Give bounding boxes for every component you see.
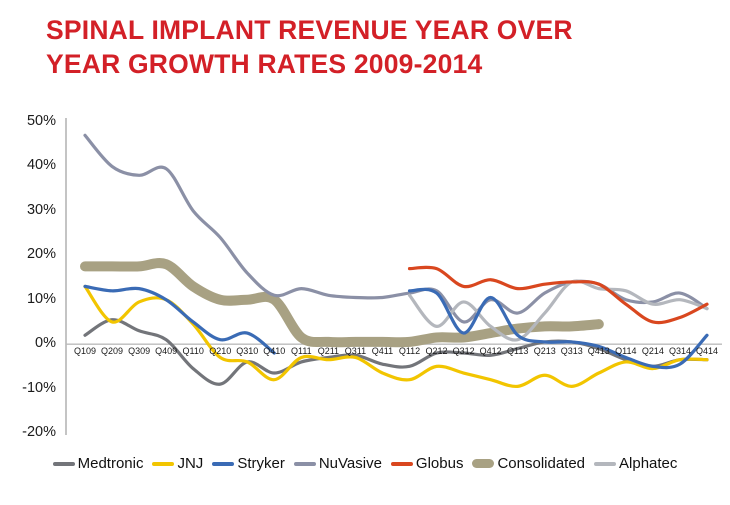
legend-item-label: Medtronic [78,455,144,472]
plot-area [0,0,730,500]
legend-item-label: Alphatec [619,455,677,472]
legend-swatch-icon [391,462,413,466]
chart-legend: MedtronicJNJStrykerNuVasiveGlobusConsoli… [0,455,730,472]
chart-container: Spinal Implant Revenue Year Over Year Gr… [0,0,730,500]
legend-item-stryker[interactable]: Stryker [212,455,285,472]
legend-item-label: Consolidated [497,455,585,472]
legend-item-label: JNJ [177,455,203,472]
legend-item-label: NuVasive [319,455,382,472]
legend-item-medtronic[interactable]: Medtronic [53,455,144,472]
x-axis-tick-label: Q414 [691,346,723,356]
series-jnj [85,286,707,386]
legend-swatch-icon [152,462,174,466]
legend-swatch-icon [594,462,616,466]
y-axis-tick-label: 10% [8,291,56,307]
y-axis-tick-label: -10% [8,380,56,396]
legend-swatch-icon [212,462,234,466]
y-axis-tick-label: 40% [8,157,56,173]
legend-item-jnj[interactable]: JNJ [152,455,203,472]
legend-item-globus[interactable]: Globus [391,455,464,472]
legend-item-consolidated[interactable]: Consolidated [472,455,585,472]
legend-item-nuvasive[interactable]: NuVasive [294,455,382,472]
y-axis-tick-label: 0% [8,335,56,351]
series-line-jnj [85,286,707,386]
y-axis-tick-label: -20% [8,424,56,440]
series-consolidated [85,263,599,342]
y-axis-tick-label: 20% [8,246,56,262]
legend-item-alphatec[interactable]: Alphatec [594,455,677,472]
y-axis-tick-label: 50% [8,113,56,129]
y-axis-tick-label: 30% [8,202,56,218]
legend-item-label: Globus [416,455,464,472]
legend-swatch-icon [53,462,75,466]
legend-swatch-icon [294,462,316,466]
series-line-consolidated [85,263,599,342]
legend-item-label: Stryker [237,455,285,472]
line-chart-svg [0,0,730,500]
legend-swatch-icon [472,459,494,468]
